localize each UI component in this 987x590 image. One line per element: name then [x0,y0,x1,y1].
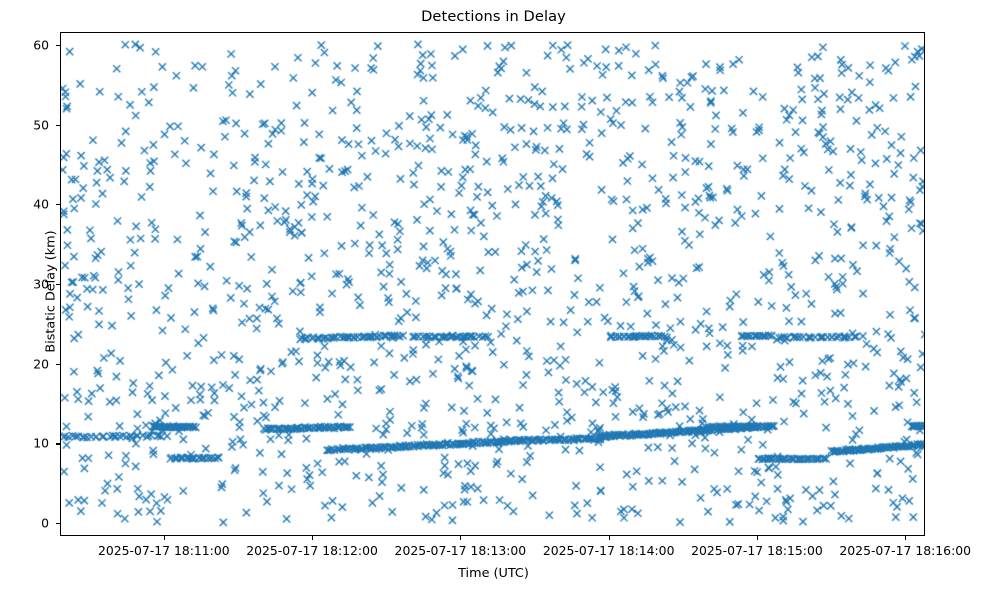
y-tick-label: 40 [0,197,49,212]
y-tick-label: 60 [0,37,49,52]
y-axis-label: Bistatic Delay (km) [44,202,59,382]
x-tick-mark [164,536,165,540]
y-tick-label: 50 [0,117,49,132]
x-tick-label: 2025-07-17 18:15:00 [691,543,823,558]
x-tick-mark [460,536,461,540]
plot-area[interactable] [60,32,925,536]
x-tick-label: 2025-07-17 18:13:00 [395,543,527,558]
x-tick-label: 2025-07-17 18:11:00 [98,543,230,558]
x-axis-label: Time (UTC) [0,566,987,581]
y-tick-label: 10 [0,436,49,451]
chart-title: Detections in Delay [0,8,987,25]
x-tick-label: 2025-07-17 18:14:00 [543,543,675,558]
y-tick-label: 0 [0,516,49,531]
y-tick-label: 20 [0,356,49,371]
figure-canvas: Detections in Delay Bistatic Delay (km) … [0,0,987,590]
x-tick-mark [609,536,610,540]
x-tick-mark [757,536,758,540]
scatter-series-detections [61,33,925,536]
x-tick-label: 2025-07-17 18:12:00 [246,543,378,558]
y-tick-label: 30 [0,277,49,292]
x-tick-mark [312,536,313,540]
x-tick-label: 2025-07-17 18:16:00 [839,543,971,558]
x-tick-mark [905,536,906,540]
